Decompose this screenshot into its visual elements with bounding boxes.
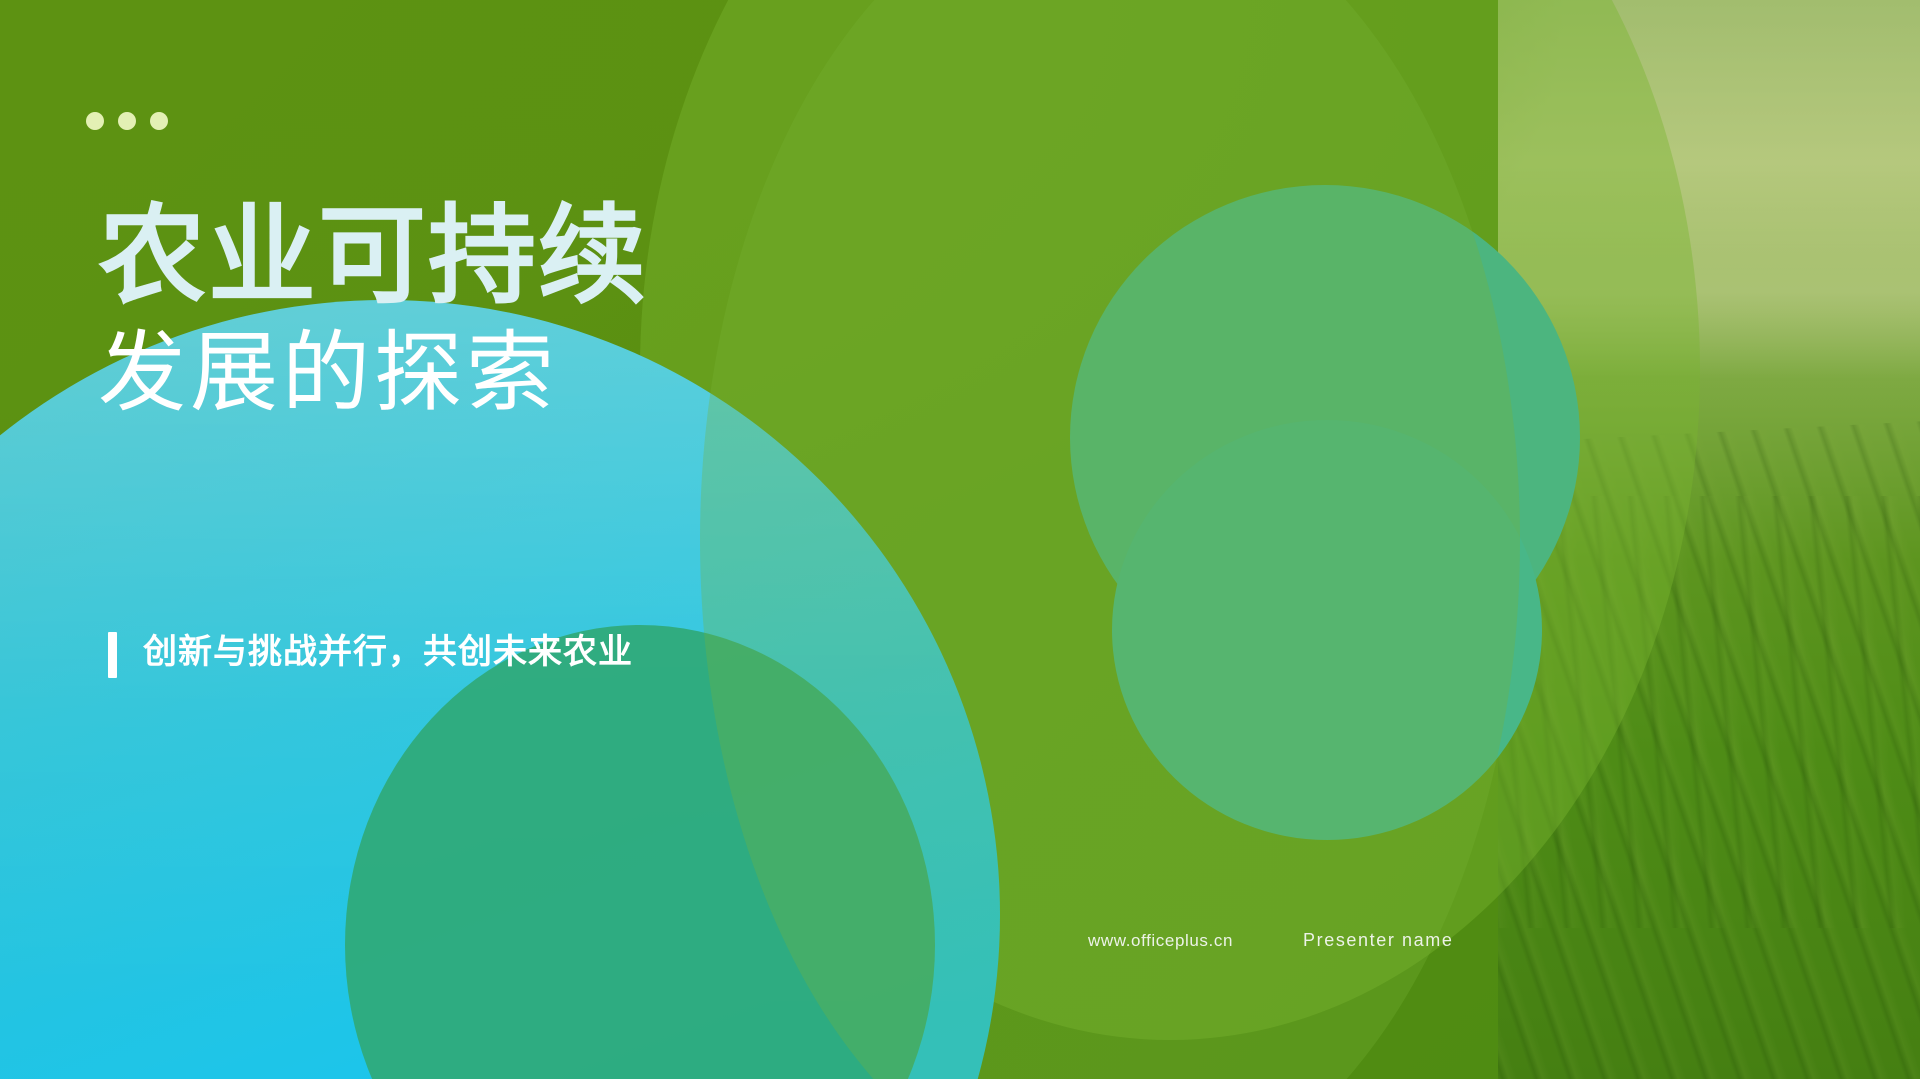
subtitle-block: 创新与挑战并行，共创未来农业	[108, 628, 748, 678]
subtitle-text: 创新与挑战并行，共创未来农业	[143, 628, 633, 676]
slide-footer: www.officeplus.cn Presenter name	[1088, 930, 1608, 951]
footer-website-link[interactable]: www.officeplus.cn	[1088, 931, 1233, 951]
dot-icon	[86, 112, 104, 130]
title-block: 农业可持续 发展的探索	[98, 198, 858, 424]
dot-icon	[150, 112, 168, 130]
footer-presenter-name: Presenter name	[1303, 930, 1453, 951]
page-title-line-2: 发展的探索	[98, 321, 858, 425]
presentation-slide: 农业可持续 发展的探索 创新与挑战并行，共创未来农业 www.officeplu…	[0, 0, 1920, 1079]
slide-content: 农业可持续 发展的探索 创新与挑战并行，共创未来农业 www.officeplu…	[0, 0, 1920, 1079]
decorative-dots	[86, 112, 168, 130]
page-title-line-1: 农业可持续	[98, 198, 858, 315]
accent-bar-icon	[108, 632, 117, 678]
dot-icon	[118, 112, 136, 130]
